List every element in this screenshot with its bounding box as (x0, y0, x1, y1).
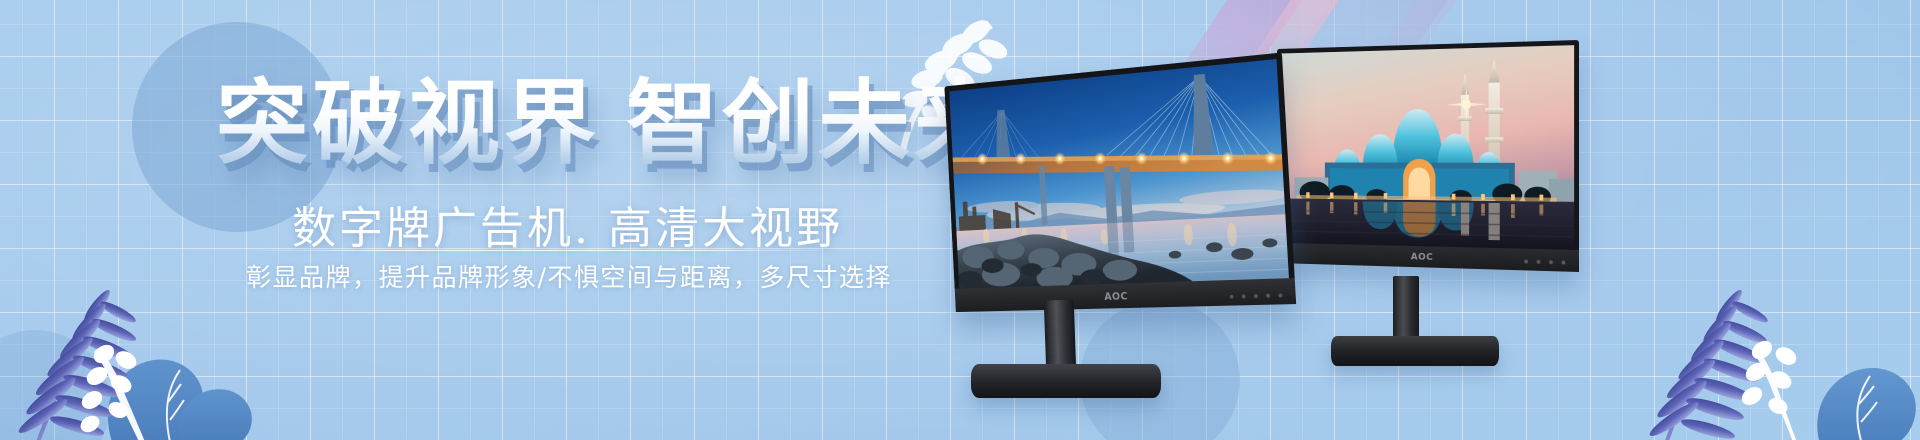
promo-banner: 突破视界智创未来 数字牌广告机. 高清大视野 彰显品牌，提升品牌形象/不惧空间与… (0, 0, 1920, 440)
bridge-image (949, 59, 1289, 289)
monitor-left-screen (949, 59, 1289, 289)
grand-mosque-image (1281, 45, 1574, 250)
monitor-right-stand-neck (1393, 276, 1419, 344)
page-title: 突破视界智创未来 (216, 74, 1010, 173)
monitor-right-buttons[interactable] (1524, 260, 1565, 265)
aoc-logo-right: AOC (1411, 251, 1434, 262)
monitor-right-stand-base (1331, 336, 1499, 366)
subtitle: 数字牌广告机. 高清大视野 (292, 192, 843, 256)
monitor-left-stand-neck (1044, 299, 1076, 372)
monitor-left-panel: AOC (944, 52, 1296, 312)
divider-rule (258, 250, 824, 251)
copy-block: 突破视界智创未来 数字牌广告机. 高清大视野 彰显品牌，提升品牌形象/不惧空间与… (0, 0, 900, 440)
monitor-left-buttons[interactable] (1230, 293, 1283, 298)
monitor-left-stand-base (971, 364, 1161, 398)
monitor-right-screen (1281, 45, 1574, 250)
headline-part-1: 突破视界 (216, 70, 600, 177)
monitor-left: AOC (893, 14, 1323, 354)
aoc-logo-left: AOC (1104, 289, 1128, 302)
tagline: 彰显品牌，提升品牌形象/不惧空间与距离，多尺寸选择 (246, 258, 892, 294)
